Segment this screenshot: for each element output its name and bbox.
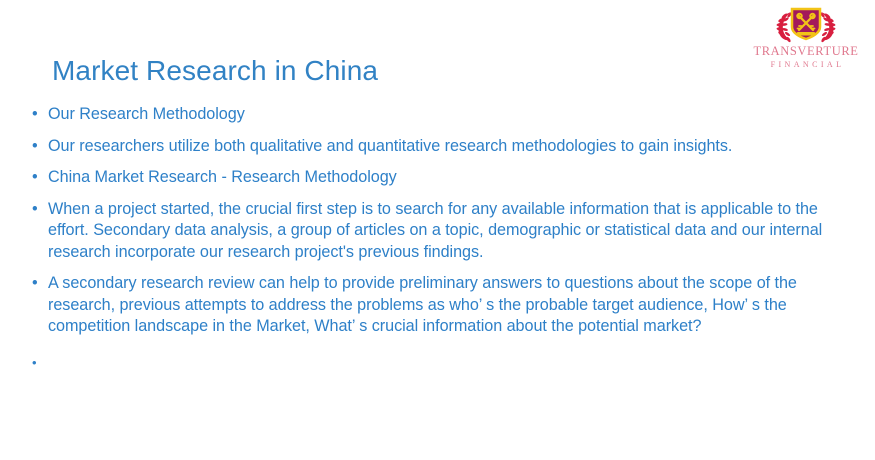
list-item: • When a project started, the crucial fi… <box>26 199 846 264</box>
list-item-text: Our Research Methodology <box>48 104 846 126</box>
list-item: • China Market Research - Research Metho… <box>26 167 846 189</box>
bullet-icon: • <box>32 352 42 374</box>
crest-icon <box>771 4 841 44</box>
list-item-text: When a project started, the crucial firs… <box>48 199 846 264</box>
bullet-icon: • <box>32 136 42 158</box>
bullet-icon: • <box>32 167 42 189</box>
list-item: • Our researchers utilize both qualitati… <box>26 136 846 158</box>
list-item-text: Our researchers utilize both qualitative… <box>48 136 846 158</box>
list-item: • Our Research Methodology <box>26 104 846 126</box>
bullet-icon: • <box>32 104 42 126</box>
list-item-text: A secondary research review can help to … <box>48 273 846 338</box>
company-logo: TRANSVERTURE FINANCIAL <box>745 4 867 80</box>
logo-wordmark: TRANSVERTURE <box>745 45 867 58</box>
bullet-list: • Our Research Methodology • Our researc… <box>26 104 846 373</box>
list-item-text: China Market Research - Research Methodo… <box>48 167 846 189</box>
list-item-empty: • <box>26 352 846 373</box>
bullet-icon: • <box>32 273 42 295</box>
list-item: • A secondary research review can help t… <box>26 273 846 338</box>
bullet-icon: • <box>32 199 42 221</box>
page-title: Market Research in China <box>52 55 378 87</box>
slide-canvas: TRANSVERTURE FINANCIAL Market Research i… <box>0 0 875 460</box>
logo-subword: FINANCIAL <box>745 61 867 69</box>
